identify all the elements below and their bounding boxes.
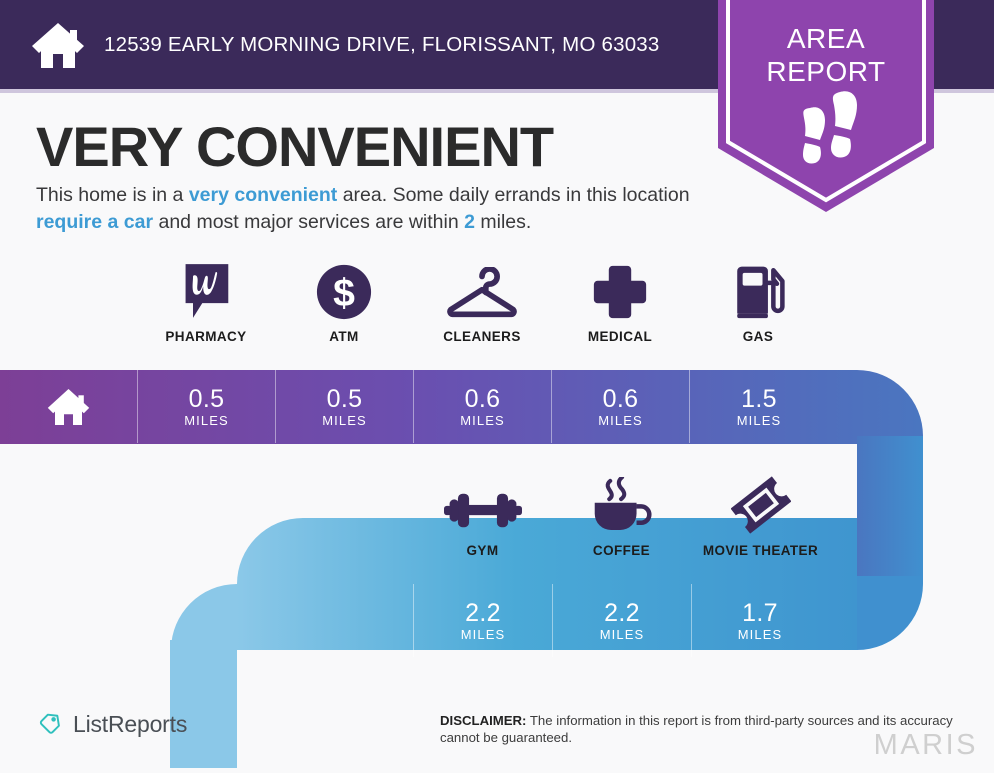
brand-name: ListReports [73,711,187,738]
amenity-label: PHARMACY [165,329,246,344]
amenity-label: GAS [743,329,773,344]
distance-cell-movie-theater: 1.7 MILES [691,584,828,657]
amenity-gym: GYM [413,472,552,558]
distance-unit: MILES [737,413,782,428]
summary-highlight-car: require a car [36,211,153,233]
distance-value: 1.5 [741,386,777,412]
amenity-label: CLEANERS [443,329,520,344]
badge-line-2: REPORT [706,55,946,88]
amenity-gas: GAS [689,258,827,344]
summary-highlight-convenience: very convenient [189,184,337,206]
amenity-label: COFFEE [593,543,650,558]
summary-text-2: area. Some daily errands in this locatio… [337,184,689,206]
summary-highlight-miles: 2 [464,211,475,233]
distance-unit: MILES [184,413,229,428]
distance-value: 0.6 [603,386,639,412]
dollar-circle-icon: $ [316,258,372,320]
distance-unit: MILES [460,413,505,428]
summary-paragraph: This home is in a very convenient area. … [36,182,704,236]
header-content: 12539 EARLY MORNING DRIVE, FLORISSANT, M… [30,0,660,89]
summary-text-4: miles. [475,211,531,233]
disclaimer-label: DISCLAIMER: [440,713,526,728]
coffee-cup-icon [592,472,652,534]
property-address: 12539 EARLY MORNING DRIVE, FLORISSANT, M… [104,33,660,57]
distance-bar-row-1: 0.5 MILES 0.5 MILES 0.6 MILES 0.6 MILES … [0,370,828,443]
distance-cell-spacer [237,584,413,657]
distance-bar-row-2: 2.2 MILES 2.2 MILES 1.7 MILES [237,584,828,657]
gas-pump-icon [730,258,786,320]
listreports-logo-icon [38,709,64,740]
amenity-atm: $ ATM [275,258,413,344]
page-title: VERY CONVENIENT [36,115,553,179]
distance-cell-cleaners: 0.6 MILES [413,370,551,443]
summary-text-1: This home is in a [36,184,189,206]
distance-value: 2.2 [465,600,501,626]
distance-unit: MILES [322,413,367,428]
distance-unit: MILES [461,627,506,642]
badge-line-1: AREA [706,22,946,55]
amenity-coffee: COFFEE [552,472,691,558]
distance-value: 0.5 [189,386,225,412]
amenity-icon-row-1: PHARMACY $ ATM CLEANERS [137,258,827,344]
medical-cross-icon [592,258,648,320]
amenity-label: ATM [329,329,358,344]
amenity-icon-row-2: GYM COFFEE [413,472,830,558]
maris-watermark: MARIS [874,729,978,762]
svg-text:$: $ [333,272,355,315]
amenity-label: MOVIE THEATER [703,543,818,558]
distance-cell-medical: 0.6 MILES [551,370,689,443]
distance-cell-atm: 0.5 MILES [275,370,413,443]
home-icon [30,20,86,70]
distance-unit: MILES [738,627,783,642]
area-report-infographic: 12539 EARLY MORNING DRIVE, FLORISSANT, M… [0,0,994,768]
distance-value: 0.6 [465,386,501,412]
distance-unit: MILES [598,413,643,428]
distance-cell-coffee: 2.2 MILES [552,584,691,657]
distance-value: 1.7 [742,600,778,626]
area-report-badge: AREA REPORT [706,0,946,212]
amenity-cleaners: CLEANERS [413,258,551,344]
summary-text-3: and most major services are within [153,211,464,233]
amenity-pharmacy: PHARMACY [137,258,275,344]
distance-unit: MILES [600,627,645,642]
home-marker-segment [0,370,137,443]
walgreens-pharmacy-icon [180,258,232,320]
badge-title: AREA REPORT [706,22,946,88]
amenity-movie-theater: MOVIE THEATER [691,472,830,558]
amenity-label: GYM [467,543,499,558]
distance-cell-pharmacy: 0.5 MILES [137,370,275,443]
distance-cell-gym: 2.2 MILES [413,584,552,657]
distance-value: 0.5 [327,386,363,412]
listreports-brand: ListReports [38,709,187,740]
distance-cell-gas: 1.5 MILES [689,370,828,443]
movie-ticket-icon [731,472,791,534]
hanger-icon [445,258,519,320]
dumbbell-icon [444,472,522,534]
amenity-medical: MEDICAL [551,258,689,344]
distance-value: 2.2 [604,600,640,626]
amenity-label: MEDICAL [588,329,652,344]
home-icon [46,387,91,427]
